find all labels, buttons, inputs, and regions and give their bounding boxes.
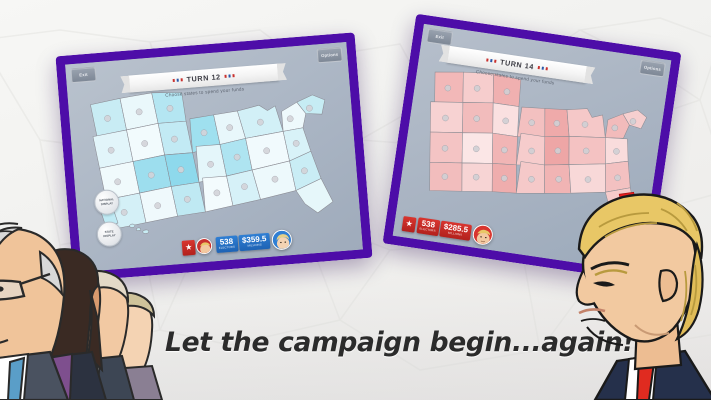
- exit-button[interactable]: Exit: [70, 66, 96, 83]
- funds-label: MILLIONS: [247, 244, 261, 248]
- banner-dots-right: [225, 74, 236, 77]
- electors-chip: 538 ELECTORS: [416, 217, 440, 236]
- banner-dots-right: [538, 66, 549, 70]
- candidate-trump: [565, 175, 711, 400]
- options-button[interactable]: Options: [317, 46, 343, 63]
- funds-chip: $285.5 MILLIONS: [439, 221, 471, 241]
- electors-label: ELECTORS: [219, 246, 235, 251]
- app-stage: TURN 14 Choose states to spend your fund…: [0, 0, 711, 400]
- candidates-group-left: [0, 190, 194, 400]
- funds-label: MILLIONS: [448, 232, 463, 237]
- clinton-avatar-icon: [272, 230, 292, 251]
- electors-label: ELECTORS: [419, 228, 436, 234]
- turn-label: TURN 12: [186, 72, 221, 84]
- funds-chip: $359.5 MILLIONS: [239, 233, 271, 251]
- turn-label: TURN 14: [499, 57, 534, 71]
- opponent-avatar[interactable]: [195, 237, 212, 254]
- flag-button[interactable]: ★: [402, 215, 417, 232]
- trump-avatar-icon: [472, 224, 494, 246]
- banner-dots-left: [172, 79, 183, 82]
- page-title: Let the campaign begin...again!: [165, 327, 634, 358]
- candidate-avatar-trump[interactable]: [471, 223, 494, 246]
- electors-chip: 538 ELECTORS: [215, 235, 238, 253]
- opponent-avatar-icon: [197, 238, 213, 254]
- banner-dots-left: [486, 59, 497, 63]
- candidate-avatar-clinton[interactable]: [271, 229, 293, 251]
